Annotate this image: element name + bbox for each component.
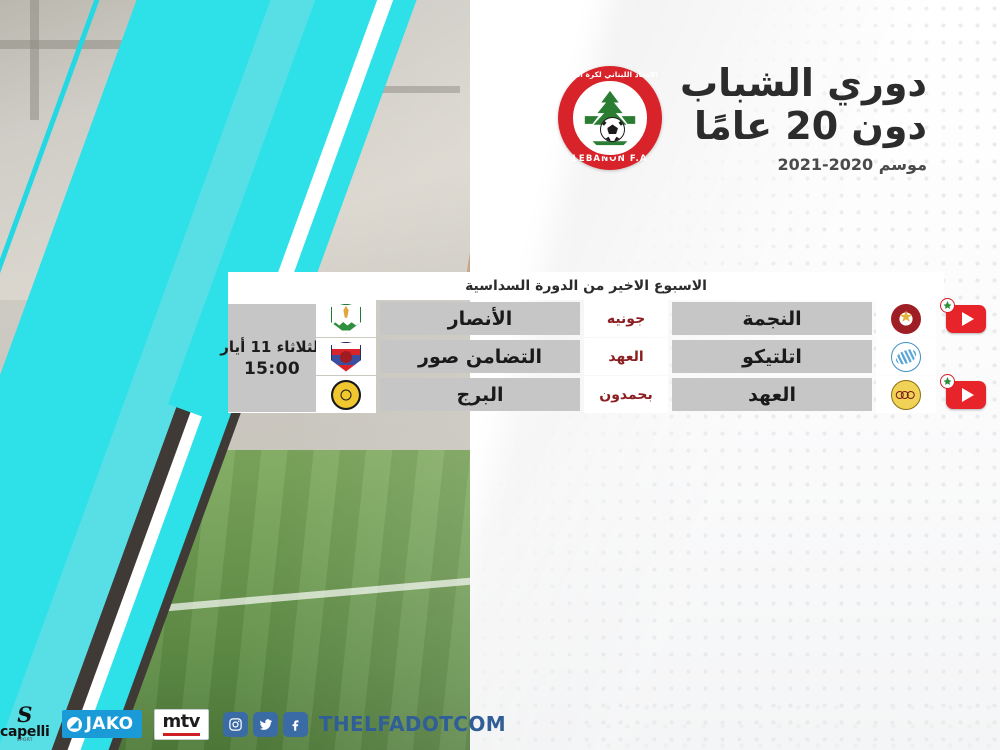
page-title-line2: دون 20 عامًا xyxy=(680,105,927,148)
youtube-live-icon[interactable] xyxy=(946,381,986,409)
lebanon-fa-logo: الاتحاد اللبناني لكرة القدم LEBANON F.A xyxy=(558,66,662,170)
fixtures-rows: الأنصار جونيه النجمة xyxy=(316,300,996,413)
away-team-name: العهد xyxy=(672,378,872,411)
burj-crest xyxy=(331,380,361,410)
venue-name: بحمدون xyxy=(584,376,668,413)
logo-arabic-text: الاتحاد اللبناني لكرة القدم xyxy=(558,70,662,79)
fixtures-banner: الاسبوع الاخير من الدورة السداسية xyxy=(228,272,944,300)
ahed-crest xyxy=(891,380,921,410)
home-crest-cell xyxy=(316,300,376,337)
venue-name: العهد xyxy=(584,338,668,375)
poster-footer: THELFADOTCOM S capelli SPORT JAKO mtv xyxy=(0,698,1000,750)
live-badge-icon xyxy=(940,298,955,313)
poster-root: 11 الأهلي xyxy=(0,0,1000,750)
capelli-subtitle: SPORT xyxy=(17,739,33,744)
ansar-crest xyxy=(331,304,361,334)
logo-inner-disc xyxy=(571,79,649,157)
away-team-name: النجمة xyxy=(672,302,872,335)
table-row[interactable]: الأنصار جونيه النجمة xyxy=(316,300,996,337)
fixtures-body: الثلاثاء 11 أيار 15:00 الأنصار جونيه الن… xyxy=(228,300,944,413)
match-time: 15:00 xyxy=(244,359,300,379)
fixtures-panel: الاسبوع الاخير من الدورة السداسية الثلاث… xyxy=(228,272,944,413)
live-badge-icon xyxy=(940,374,955,389)
live-cell[interactable] xyxy=(936,376,996,413)
page-title-line1: دوري الشباب xyxy=(680,62,927,105)
facebook-icon[interactable] xyxy=(283,712,308,737)
jako-name: JAKO xyxy=(86,714,134,734)
capelli-mark-icon: S xyxy=(17,704,32,725)
atletico-crest xyxy=(891,342,921,372)
nejmeh-crest xyxy=(891,304,921,334)
home-team-name: الأنصار xyxy=(380,302,580,335)
venue-name: جونيه xyxy=(584,300,668,337)
mtv-logo: mtv xyxy=(154,709,209,740)
header-text-block: دوري الشباب دون 20 عامًا موسم 2020-2021 xyxy=(680,62,927,174)
mtv-underline xyxy=(163,733,200,736)
soccer-ball-icon xyxy=(600,117,625,142)
live-cell xyxy=(936,338,996,375)
instagram-icon[interactable] xyxy=(223,712,248,737)
footer-dot-pattern xyxy=(580,698,1000,750)
jako-logo: JAKO xyxy=(62,710,142,738)
away-crest-cell xyxy=(876,300,936,337)
fixtures-date-column: الثلاثاء 11 أيار 15:00 xyxy=(228,300,316,413)
home-team-name: البرج xyxy=(380,378,580,411)
season-label: موسم 2020-2021 xyxy=(680,155,927,174)
live-cell[interactable] xyxy=(936,300,996,337)
table-row[interactable]: التضامن صور العهد اتلتيكو xyxy=(316,338,996,375)
away-team-name: اتلتيكو xyxy=(672,340,872,373)
tadamon-sour-crest xyxy=(331,342,361,372)
home-crest-cell xyxy=(316,376,376,413)
stand-post xyxy=(30,0,39,120)
match-date: الثلاثاء 11 أيار xyxy=(220,338,324,356)
capelli-logo: S capelli SPORT xyxy=(0,704,50,744)
poster-header: دوري الشباب دون 20 عامًا موسم 2020-2021 … xyxy=(558,62,978,174)
sponsor-logos: S capelli SPORT JAKO mtv xyxy=(0,704,209,744)
social-links: THELFADOTCOM xyxy=(223,712,506,737)
away-crest-cell xyxy=(876,338,936,375)
away-crest-cell xyxy=(876,376,936,413)
table-row[interactable]: البرج بحمدون العهد xyxy=(316,376,996,413)
mtv-name: mtv xyxy=(163,713,200,731)
jako-mark-icon xyxy=(67,717,82,732)
site-handle: THELFADOTCOM xyxy=(319,712,506,736)
home-team-name: التضامن صور xyxy=(380,340,580,373)
youtube-live-icon[interactable] xyxy=(946,305,986,333)
home-crest-cell xyxy=(316,338,376,375)
match-datetime-box: الثلاثاء 11 أيار 15:00 xyxy=(228,304,316,412)
twitter-icon[interactable] xyxy=(253,712,278,737)
